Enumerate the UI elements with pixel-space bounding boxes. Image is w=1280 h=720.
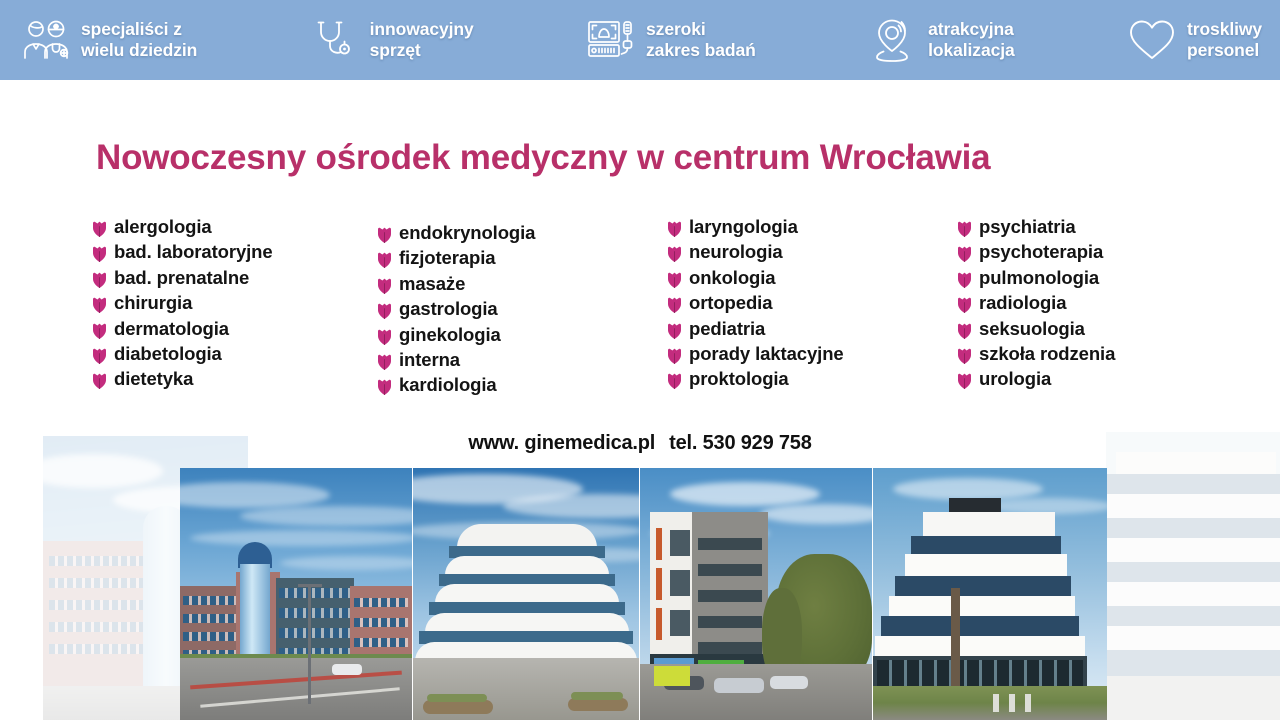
features-banner-inner: specjaliści z wielu dziedzin innowacyjny… (0, 14, 1280, 66)
service-item[interactable]: urologia (957, 368, 1197, 390)
service-label: onkologia (689, 267, 775, 289)
service-label: pulmonologia (979, 267, 1099, 289)
tulip-bullet-icon (667, 272, 682, 288)
building-photo-faded-right (1106, 432, 1280, 720)
ultrasound-machine-icon (585, 14, 637, 66)
feature-specjalisci-label: specjaliści z wielu dziedzin (81, 19, 197, 60)
service-label: bad. prenatalne (114, 267, 249, 289)
service-item[interactable]: interna (377, 349, 667, 371)
service-label: bad. laboratoryjne (114, 241, 273, 263)
service-item[interactable]: endokrynologia (377, 222, 667, 244)
building-photo-white-modern (873, 468, 1107, 720)
service-label: alergologia (114, 216, 212, 238)
page-root: specjaliści z wielu dziedzin innowacyjny… (0, 0, 1280, 720)
tulip-bullet-icon (957, 221, 972, 237)
tulip-bullet-icon (957, 348, 972, 364)
tulip-bullet-icon (667, 246, 682, 262)
service-item[interactable]: szkoła rodzenia (957, 343, 1197, 365)
services-column-2: endokrynologia fizjoterapia masaże gastr… (377, 216, 667, 400)
service-label: pediatria (689, 318, 765, 340)
services-column-1: alergologia bad. laboratoryjne bad. pren… (92, 216, 377, 400)
service-item[interactable]: masaże (377, 273, 667, 295)
service-item[interactable]: alergologia (92, 216, 377, 238)
service-item[interactable]: seksuologia (957, 318, 1197, 340)
feature-zakres-badan[interactable]: szeroki zakres badań (585, 14, 756, 66)
service-label: szkoła rodzenia (979, 343, 1115, 365)
tulip-bullet-icon (92, 323, 107, 339)
tulip-bullet-icon (92, 348, 107, 364)
service-label: ortopedia (689, 292, 772, 314)
service-item[interactable]: diabetologia (92, 343, 377, 365)
service-item[interactable]: gastrologia (377, 298, 667, 320)
service-item[interactable]: radiologia (957, 292, 1197, 314)
tulip-bullet-icon (377, 303, 392, 319)
tulip-bullet-icon (667, 373, 682, 389)
service-item[interactable]: laryngologia (667, 216, 957, 238)
tulip-bullet-icon (377, 278, 392, 294)
feature-specjalisci[interactable]: specjaliści z wielu dziedzin (20, 14, 197, 66)
feature-lokalizacja[interactable]: atrakcyjna lokalizacja (867, 14, 1014, 66)
services-column-4: psychiatria psychoterapia pulmonologia r… (957, 216, 1197, 400)
service-item[interactable]: onkologia (667, 267, 957, 289)
service-label: porady laktacyjne (689, 343, 844, 365)
service-label: neurologia (689, 241, 783, 263)
features-banner: specjaliści z wielu dziedzin innowacyjny… (0, 0, 1280, 80)
tulip-bullet-icon (957, 246, 972, 262)
service-label: interna (399, 349, 460, 371)
service-item[interactable]: porady laktacyjne (667, 343, 957, 365)
building-gallery (0, 432, 1280, 720)
tulip-bullet-icon (667, 221, 682, 237)
building-photo-red-brick-tower (180, 468, 412, 720)
service-label: fizjoterapia (399, 247, 495, 269)
tulip-bullet-icon (957, 323, 972, 339)
service-item[interactable]: proktologia (667, 368, 957, 390)
service-item[interactable]: dietetyka (92, 368, 377, 390)
service-label: ginekologia (399, 324, 501, 346)
service-item[interactable]: ortopedia (667, 292, 957, 314)
tulip-bullet-icon (667, 323, 682, 339)
tulip-bullet-icon (957, 373, 972, 389)
service-label: dermatologia (114, 318, 229, 340)
service-item[interactable]: pediatria (667, 318, 957, 340)
tulip-bullet-icon (92, 221, 107, 237)
service-label: masaże (399, 273, 465, 295)
service-label: psychoterapia (979, 241, 1103, 263)
tulip-bullet-icon (377, 329, 392, 345)
stethoscope-icon (309, 14, 361, 66)
service-item[interactable]: dermatologia (92, 318, 377, 340)
service-label: diabetologia (114, 343, 222, 365)
tulip-bullet-icon (92, 246, 107, 262)
feature-lokalizacja-label: atrakcyjna lokalizacja (928, 19, 1014, 60)
feature-zakres-badan-label: szeroki zakres badań (646, 19, 756, 60)
service-label: radiologia (979, 292, 1066, 314)
tulip-bullet-icon (377, 227, 392, 243)
service-label: laryngologia (689, 216, 798, 238)
service-item[interactable]: psychiatria (957, 216, 1197, 238)
service-item[interactable]: chirurgia (92, 292, 377, 314)
service-item[interactable]: kardiologia (377, 374, 667, 396)
tulip-bullet-icon (957, 272, 972, 288)
tulip-bullet-icon (92, 272, 107, 288)
service-item[interactable]: neurologia (667, 241, 957, 263)
services-column-3: laryngologia neurologia onkologia ortope… (667, 216, 957, 400)
service-item[interactable]: psychoterapia (957, 241, 1197, 263)
tulip-bullet-icon (667, 348, 682, 364)
feature-sprzet[interactable]: innowacyjny sprzęt (309, 14, 474, 66)
service-label: endokrynologia (399, 222, 535, 244)
feature-personel[interactable]: troskliwy personel (1126, 14, 1262, 66)
service-label: kardiologia (399, 374, 497, 396)
service-item[interactable]: bad. laboratoryjne (92, 241, 377, 263)
website-link[interactable]: www. ginemedica.pl (468, 432, 655, 455)
tulip-bullet-icon (377, 252, 392, 268)
feature-personel-label: troskliwy personel (1187, 19, 1262, 60)
tulip-bullet-icon (92, 373, 107, 389)
tulip-bullet-icon (957, 297, 972, 313)
service-label: proktologia (689, 368, 789, 390)
service-label: psychiatria (979, 216, 1076, 238)
service-label: dietetyka (114, 368, 193, 390)
two-doctors-icon (20, 14, 72, 66)
location-pin-icon (867, 14, 919, 66)
tulip-bullet-icon (92, 297, 107, 313)
tulip-bullet-icon (667, 297, 682, 313)
building-photo-round-white (413, 468, 639, 720)
service-item[interactable]: bad. prenatalne (92, 267, 377, 289)
phone-number[interactable]: tel. 530 929 758 (669, 432, 811, 455)
service-label: gastrologia (399, 298, 498, 320)
page-title: Nowoczesny ośrodek medyczny w centrum Wr… (96, 138, 990, 178)
gallery-left-margin (0, 432, 43, 720)
service-item[interactable]: fizjoterapia (377, 247, 667, 269)
services-list: alergologia bad. laboratoryjne bad. pren… (0, 216, 1280, 400)
service-label: urologia (979, 368, 1051, 390)
building-photo-grey-facade (640, 468, 872, 720)
tulip-bullet-icon (377, 379, 392, 395)
feature-sprzet-label: innowacyjny sprzęt (370, 19, 474, 60)
service-item[interactable]: pulmonologia (957, 267, 1197, 289)
heart-icon (1126, 14, 1178, 66)
service-item[interactable]: ginekologia (377, 324, 667, 346)
tulip-bullet-icon (377, 354, 392, 370)
service-label: seksuologia (979, 318, 1085, 340)
service-label: chirurgia (114, 292, 192, 314)
